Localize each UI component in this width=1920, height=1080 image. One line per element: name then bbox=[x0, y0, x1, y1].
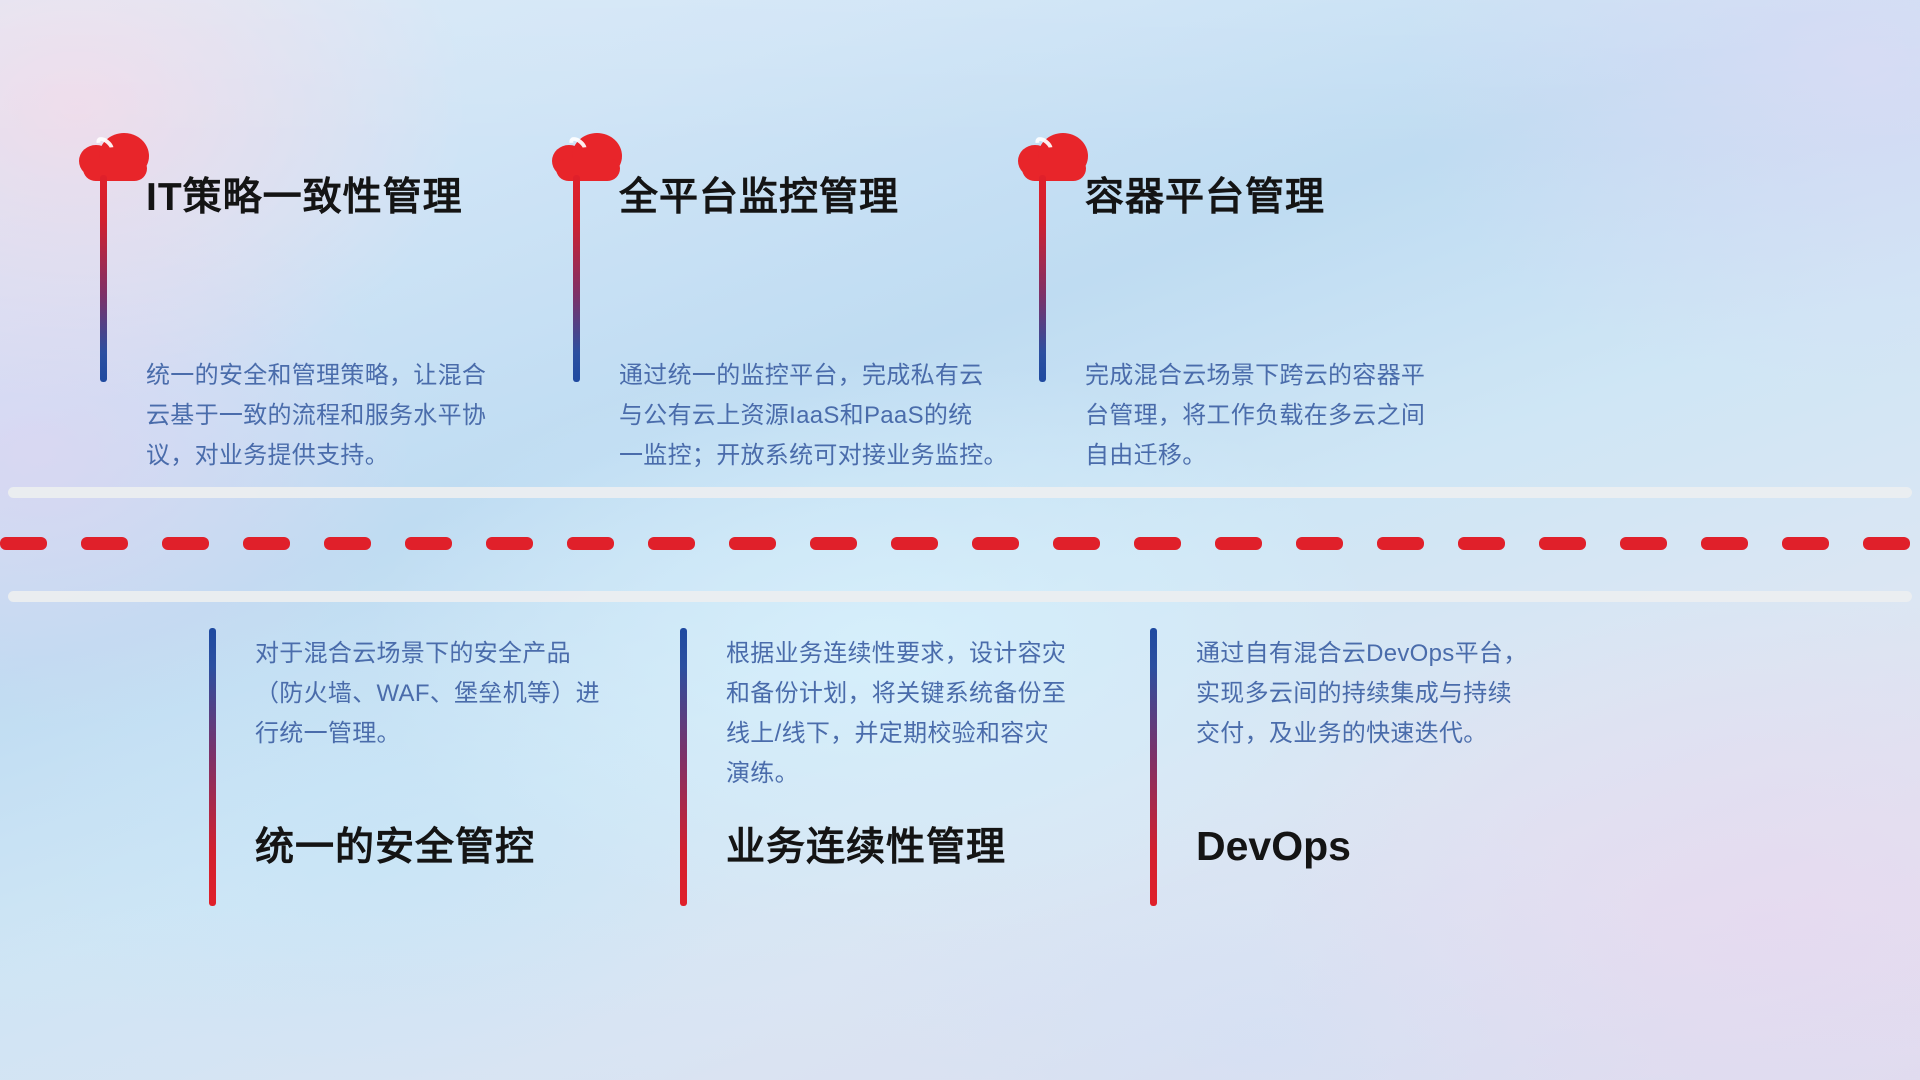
cloud-icon bbox=[79, 131, 151, 183]
cloud-icon bbox=[188, 898, 260, 950]
divider-dash bbox=[1215, 537, 1262, 550]
divider-dash bbox=[810, 537, 857, 550]
feature-description: 完成混合云场景下跨云的容器平 台管理，将工作负载在多云之间 自由迁移。 bbox=[1085, 356, 1465, 476]
divider-dash bbox=[1296, 537, 1343, 550]
divider-dash bbox=[1701, 537, 1748, 550]
divider-dash bbox=[891, 537, 938, 550]
divider-dash bbox=[1377, 537, 1424, 550]
feature-description: 根据业务连续性要求，设计容灾 和备份计划，将关键系统备份至 线上/线下，并定期校… bbox=[726, 634, 1116, 794]
divider-dash bbox=[972, 537, 1019, 550]
divider-dash bbox=[162, 537, 209, 550]
divider-dash bbox=[486, 537, 533, 550]
divider-dashed-line bbox=[0, 537, 1920, 550]
divider-dash bbox=[405, 537, 452, 550]
infographic-stage: IT策略一致性管理 统一的安全和管理策略，让混合 云基于一致的流程和服务水平协 … bbox=[0, 0, 1920, 1080]
stem-connector bbox=[209, 628, 216, 906]
divider-dash bbox=[729, 537, 776, 550]
cloud-icon bbox=[659, 898, 731, 950]
feature-description: 对于混合云场景下的安全产品 （防火墙、WAF、堡垒机等）进 行统一管理。 bbox=[255, 634, 645, 754]
cloud-icon bbox=[1129, 898, 1201, 950]
feature-description: 通过统一的监控平台，完成私有云 与公有云上资源IaaS和PaaS的统 一监控；开… bbox=[619, 356, 1029, 476]
divider-rail-bottom bbox=[8, 591, 1912, 602]
stem-connector bbox=[100, 175, 107, 382]
divider-dash bbox=[648, 537, 695, 550]
road-divider bbox=[0, 487, 1920, 607]
feature-title: IT策略一致性管理 bbox=[146, 178, 463, 217]
feature-title: 全平台监控管理 bbox=[619, 178, 899, 217]
divider-dash bbox=[324, 537, 371, 550]
divider-rail-top bbox=[8, 487, 1912, 498]
divider-dash bbox=[81, 537, 128, 550]
divider-dash bbox=[243, 537, 290, 550]
cloud-base bbox=[556, 159, 620, 181]
divider-dash bbox=[1458, 537, 1505, 550]
cloud-base bbox=[1022, 159, 1086, 181]
feature-title: DevOps bbox=[1196, 826, 1351, 867]
divider-dash bbox=[1863, 537, 1910, 550]
divider-dash bbox=[1053, 537, 1100, 550]
cloud-icon bbox=[552, 131, 624, 183]
divider-dash bbox=[567, 537, 614, 550]
stem-connector bbox=[680, 628, 687, 906]
feature-description: 通过自有混合云DevOps平台， 实现多云间的持续集成与持续 交付，及业务的快速… bbox=[1196, 634, 1596, 754]
stem-connector bbox=[1150, 628, 1157, 906]
divider-dash bbox=[0, 537, 47, 550]
cloud-icon bbox=[1018, 131, 1090, 183]
cloud-base bbox=[83, 159, 147, 181]
stem-connector bbox=[573, 175, 580, 382]
feature-description: 统一的安全和管理策略，让混合 云基于一致的流程和服务水平协 议，对业务提供支持。 bbox=[146, 356, 526, 476]
feature-title: 业务连续性管理 bbox=[726, 828, 1006, 867]
stem-connector bbox=[1039, 175, 1046, 382]
divider-dash bbox=[1620, 537, 1667, 550]
divider-dash bbox=[1782, 537, 1829, 550]
feature-title: 容器平台管理 bbox=[1085, 178, 1325, 217]
divider-dash bbox=[1539, 537, 1586, 550]
divider-dash bbox=[1134, 537, 1181, 550]
feature-title: 统一的安全管控 bbox=[255, 828, 535, 867]
